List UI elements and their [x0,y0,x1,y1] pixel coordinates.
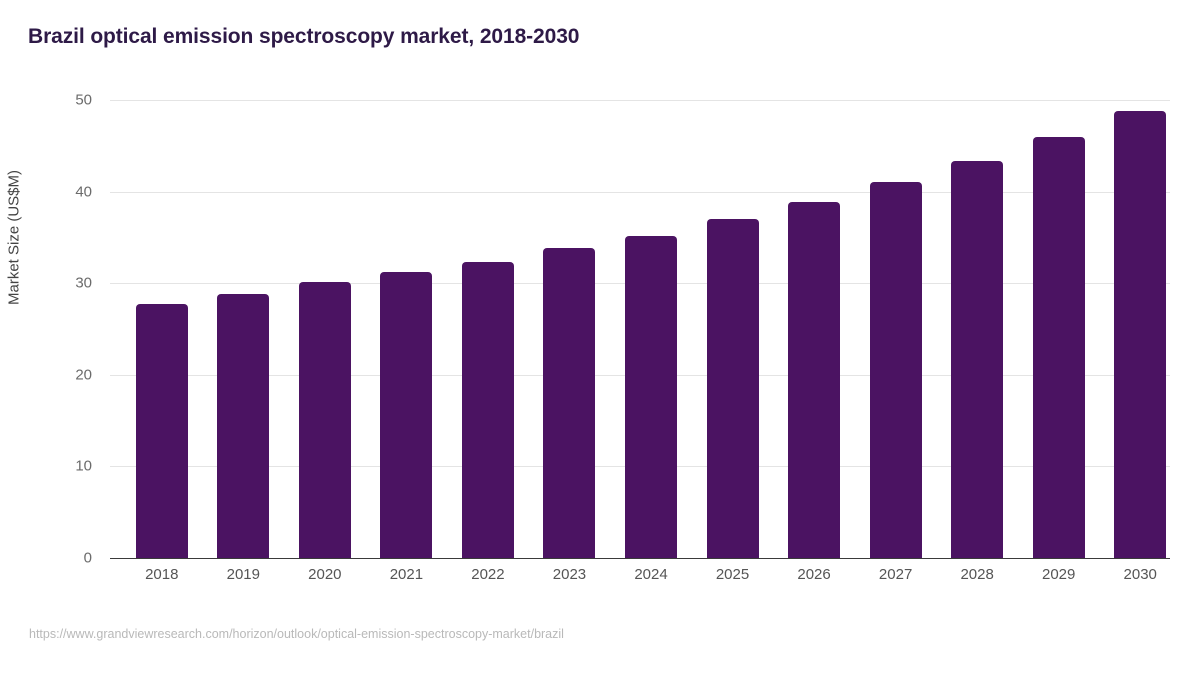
y-tick-label: 50 [52,92,92,109]
x-tick-label: 2018 [145,566,178,583]
y-axis-title: Market Size (US$M) [6,38,23,438]
page-title: Brazil optical emission spectroscopy mar… [28,25,579,49]
x-tick-label: 2027 [879,566,912,583]
x-tick-label: 2026 [797,566,830,583]
chart-card: Brazil optical emission spectroscopy mar… [0,0,1200,675]
axis-line-zero [110,558,1170,559]
y-tick-label: 40 [52,183,92,200]
bar[interactable] [299,282,351,558]
x-tick-label: 2030 [1124,566,1157,583]
x-tick-label: 2023 [553,566,586,583]
source-url[interactable]: https://www.grandviewresearch.com/horizo… [29,627,564,641]
bar[interactable] [870,182,922,558]
y-tick-label: 10 [52,458,92,475]
bar[interactable] [707,219,759,558]
bar[interactable] [462,262,514,558]
x-tick-label: 2021 [390,566,423,583]
x-axis-tick-labels: 2018201920202021202220232024202520262027… [110,566,1170,592]
bar[interactable] [136,304,188,558]
y-tick-label: 20 [52,366,92,383]
x-tick-label: 2020 [308,566,341,583]
x-tick-label: 2029 [1042,566,1075,583]
bar-series [110,100,1170,558]
plot-area [110,100,1170,558]
y-axis-tick-labels: 01020304050 [52,0,92,675]
x-tick-label: 2022 [471,566,504,583]
bar[interactable] [1114,111,1166,558]
bar[interactable] [1033,137,1085,558]
bar[interactable] [951,161,1003,558]
bar[interactable] [543,248,595,558]
y-tick-label: 30 [52,275,92,292]
y-tick-label: 0 [52,550,92,567]
x-tick-label: 2024 [634,566,667,583]
bar[interactable] [217,294,269,558]
bar[interactable] [788,202,840,558]
x-tick-label: 2019 [227,566,260,583]
bar[interactable] [625,236,677,558]
bar[interactable] [380,272,432,558]
x-tick-label: 2028 [960,566,993,583]
x-tick-label: 2025 [716,566,749,583]
